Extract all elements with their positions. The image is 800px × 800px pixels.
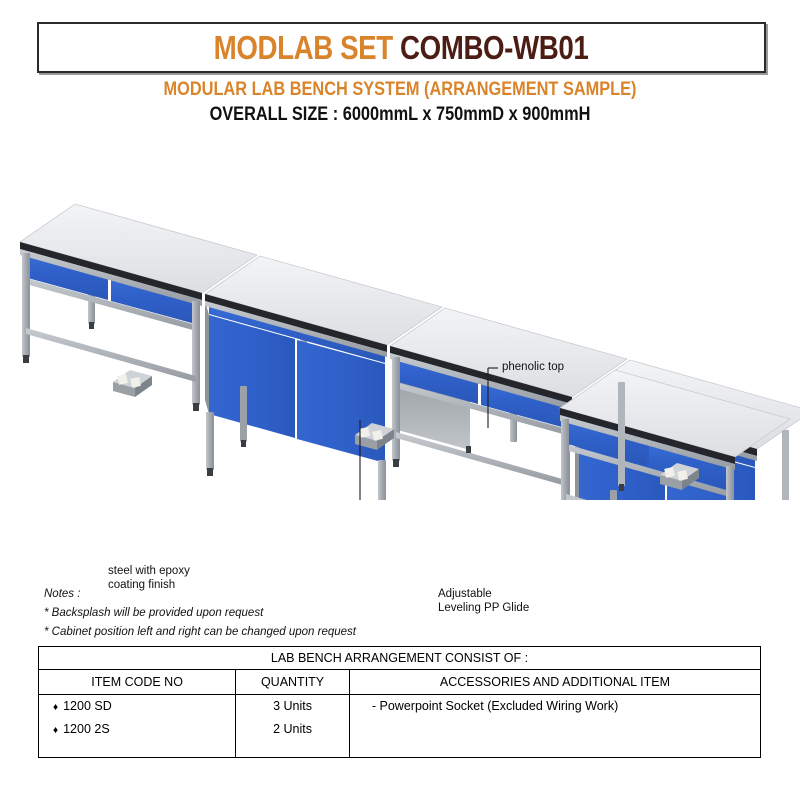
table-caption: LAB BENCH ARRANGEMENT CONSIST OF : <box>39 647 761 670</box>
annotation-phenolic-top: phenolic top <box>502 360 564 374</box>
column-header-item-code: ITEM CODE NO <box>39 670 236 695</box>
annotation-steel-line1: steel with epoxy <box>108 564 190 578</box>
annotation-pp-glide: Adjustable Leveling PP Glide <box>438 587 529 616</box>
page-title: MODLAB SET COMBO-WB01 <box>214 31 589 64</box>
column-header-accessories: ACCESSORIES AND ADDITIONAL ITEM <box>349 670 760 695</box>
notes-line-1: * Backsplash will be provided upon reque… <box>44 604 356 623</box>
notes-heading: Notes : <box>44 585 356 604</box>
item-code-value-2: 1200 2S <box>63 722 110 736</box>
title-brand: MODLAB SET <box>214 29 393 66</box>
power-socket-1 <box>113 370 152 397</box>
product-illustration: phenolic top steel with epoxy coating fi… <box>0 150 800 500</box>
bench-leg <box>726 466 734 500</box>
bench-leg <box>378 460 386 500</box>
bench-assembly <box>20 204 800 500</box>
bench-leg <box>192 301 200 405</box>
bench-leg <box>392 357 400 461</box>
pp-glide <box>241 440 246 447</box>
quantity-value-1: 3 Units <box>236 695 349 718</box>
socket-face <box>130 377 141 388</box>
quantity-value-2: 2 Units <box>236 718 349 741</box>
item-code-row-1: ♦1200 SD <box>39 695 235 718</box>
socket-face <box>117 374 128 385</box>
notes-block: Notes : * Backsplash will be provided up… <box>44 585 356 642</box>
notes-line-2: * Cabinet position left and right can be… <box>44 623 356 642</box>
bench-leg <box>610 490 617 500</box>
cell-quantities: 3 Units 2 Units <box>236 695 350 758</box>
accessory-item-1: - Powerpoint Socket (Excluded Wiring Wor… <box>350 695 760 718</box>
bullet-diamond-icon: ♦ <box>53 725 63 736</box>
pp-glide <box>23 355 29 363</box>
bullet-diamond-icon: ♦ <box>53 702 63 713</box>
socket-face <box>359 427 370 438</box>
stretcher-rail <box>26 328 196 382</box>
bench-leg <box>240 386 247 442</box>
subtitle-overall-size: OVERALL SIZE : 6000mmL x 750mmD x 900mmH <box>56 105 744 124</box>
bench-leg <box>782 430 789 500</box>
pp-glide <box>193 403 199 411</box>
cell-item-codes: ♦1200 SD ♦1200 2S <box>39 695 236 758</box>
column-header-quantity: QUANTITY <box>236 670 350 695</box>
pp-glide <box>393 459 399 467</box>
cell-accessories: - Powerpoint Socket (Excluded Wiring Wor… <box>349 695 760 758</box>
table-row: ♦1200 SD ♦1200 2S 3 Units 2 Units - Powe… <box>39 695 761 758</box>
datasheet-page: MODLAB SET COMBO-WB01 MODULAR LAB BENCH … <box>0 0 800 800</box>
cabinet-side-panel <box>205 301 209 414</box>
socket-face <box>664 467 675 478</box>
item-code-row-2: ♦1200 2S <box>39 718 235 741</box>
title-model: COMBO-WB01 <box>393 29 589 66</box>
pp-glide <box>619 484 624 491</box>
annotation-glide-line1: Adjustable <box>438 587 529 601</box>
item-code-value-1: 1200 SD <box>63 699 112 713</box>
title-box: MODLAB SET COMBO-WB01 <box>37 22 766 73</box>
pp-glide <box>466 446 471 453</box>
bench-leg <box>206 412 214 470</box>
socket-face <box>677 470 688 481</box>
table-header-row: ITEM CODE NO QUANTITY ACCESSORIES AND AD… <box>39 670 761 695</box>
annotation-glide-line2: Leveling PP Glide <box>438 601 529 615</box>
bench-leg <box>22 253 30 357</box>
pp-glide <box>89 322 94 329</box>
subtitle-system: MODULAR LAB BENCH SYSTEM (ARRANGEMENT SA… <box>56 80 744 99</box>
bench-leg <box>618 382 625 486</box>
stretcher-rail <box>396 432 566 486</box>
table-caption-row: LAB BENCH ARRANGEMENT CONSIST OF : <box>39 647 761 670</box>
socket-face <box>372 430 383 441</box>
pp-glide <box>207 468 213 476</box>
arrangement-table: LAB BENCH ARRANGEMENT CONSIST OF : ITEM … <box>38 646 761 758</box>
bench-leg <box>561 419 569 500</box>
